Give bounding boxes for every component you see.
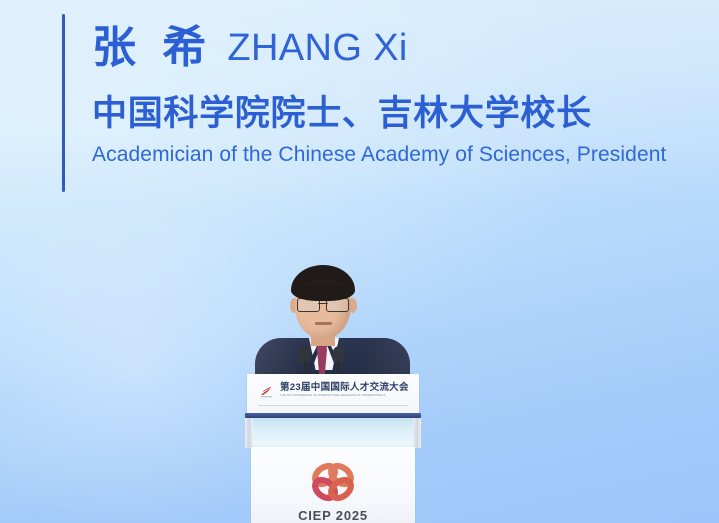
speaker-title-en: Academician of the Chinese Academy of Sc… [92,143,719,166]
podium-sign-divider [258,405,408,406]
conference-sign-texts: 第23届中国国际人才交流大会 THE 23rd CONFERENCE ON IN… [280,382,409,397]
conference-emblem-icon [258,383,275,400]
podium-post-right [413,418,421,448]
conference-sign-en: THE 23rd CONFERENCE ON INTERNATIONAL EXC… [280,394,409,397]
ciep-logo: CIEP 2025 [251,460,415,522]
podium-front-panel: CIEP 2025 [251,447,415,523]
podium-conference-sign: 第23届中国国际人才交流大会 THE 23rd CONFERENCE ON IN… [258,382,410,404]
podium-top-panel: 第23届中国国际人才交流大会 THE 23rd CONFERENCE ON IN… [247,374,419,414]
video-still: 张 希 ZHANG Xi 中国科学院院士、吉林大学校长 Academician … [0,0,719,523]
speaker-figure [247,268,417,390]
speaker-title-cn: 中国科学院院士、吉林大学校长 [92,94,719,135]
podium: 第23届中国国际人才交流大会 THE 23rd CONFERENCE ON IN… [243,374,423,523]
podium-glass-band [253,418,413,448]
caption-name-row: 张 希 ZHANG Xi [92,12,719,84]
speaker-name-en: ZHANG Xi [227,29,407,67]
ciep-rings-icon [305,460,361,504]
speaker-hair [291,265,355,301]
speaker-caption: 张 希 ZHANG Xi 中国科学院院士、吉林大学校长 Academician … [62,12,719,166]
conference-sign-cn: 第23届中国国际人才交流大会 [280,383,409,393]
caption-accent-bar [62,14,65,192]
podium-post-left [245,418,253,448]
ciep-logo-text: CIEP 2025 [298,509,368,522]
speaker-name-cn: 张 希 [92,26,213,70]
speaker-mouth [315,322,332,325]
